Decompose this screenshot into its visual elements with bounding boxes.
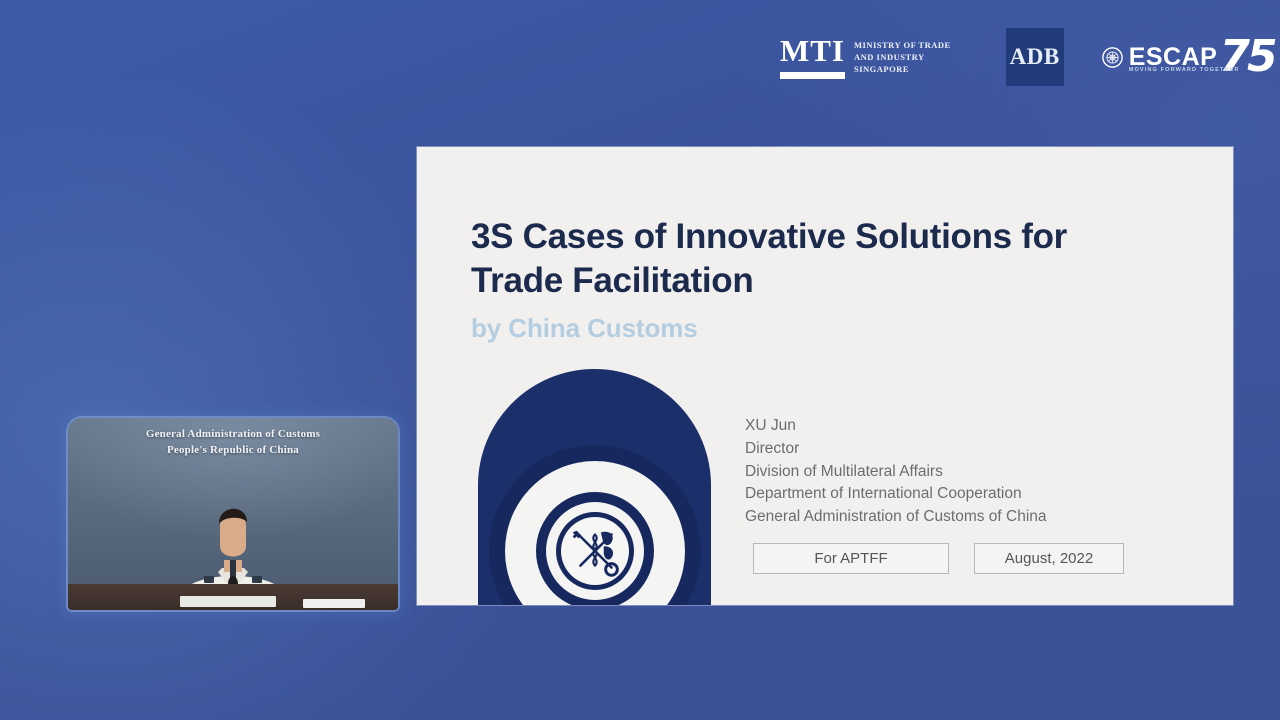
escap-logo: ESCAP 75 MOVING FORWARD TOGETHER bbox=[1102, 40, 1275, 74]
mti-acronym: MTI bbox=[780, 35, 845, 68]
mti-line-2: and Industry bbox=[854, 51, 951, 63]
video-document-secondary bbox=[303, 599, 365, 608]
video-backdrop-caption: General Administration of Customs People… bbox=[68, 427, 398, 459]
un-emblem-icon bbox=[1102, 47, 1123, 68]
mti-line-3: Singapore bbox=[854, 63, 951, 75]
mti-wordmark: Ministry of Trade and Industry Singapore bbox=[854, 39, 951, 75]
mti-logo: MTI Ministry of Trade and Industry Singa… bbox=[780, 35, 951, 79]
speaker-title: Director bbox=[745, 438, 1047, 461]
video-caption-line-1: General Administration of Customs bbox=[68, 427, 398, 443]
mti-line-1: Ministry of Trade bbox=[854, 39, 951, 51]
date-tag: August, 2022 bbox=[974, 543, 1124, 574]
event-tag: For APTFF bbox=[753, 543, 949, 574]
escap-tagline: MOVING FORWARD TOGETHER bbox=[1129, 67, 1240, 73]
emblem-rings bbox=[489, 445, 701, 605]
speaker-figure bbox=[158, 464, 308, 596]
slide-title: 3S Cases of Innovative Solutions for Tra… bbox=[471, 215, 1161, 303]
presentation-slide: 3S Cases of Innovative Solutions for Tra… bbox=[417, 147, 1233, 605]
china-customs-emblem bbox=[478, 369, 711, 605]
mti-mark: MTI bbox=[780, 35, 845, 79]
speaker-video-feed[interactable]: General Administration of Customs People… bbox=[68, 418, 398, 610]
speaker-info-block: XU Jun Director Division of Multilateral… bbox=[745, 415, 1047, 529]
caduceus-and-key-icon bbox=[561, 517, 629, 585]
speaker-division: Division of Multilateral Affairs bbox=[745, 461, 1047, 484]
speaker-name: XU Jun bbox=[745, 415, 1047, 438]
adb-acronym: ADB bbox=[1010, 44, 1060, 70]
adb-logo: ADB bbox=[1006, 28, 1064, 86]
mti-underline-bar bbox=[780, 72, 845, 79]
video-document bbox=[180, 596, 276, 607]
escap-wordmark: ESCAP bbox=[1129, 45, 1218, 70]
slide-subtitle: by China Customs bbox=[471, 313, 698, 344]
speaker-department: Department of International Cooperation bbox=[745, 483, 1047, 506]
video-caption-line-2: People's Republic of China bbox=[68, 443, 398, 459]
speaker-organization: General Administration of Customs of Chi… bbox=[745, 506, 1047, 529]
partner-logo-strip: MTI Ministry of Trade and Industry Singa… bbox=[780, 28, 1275, 86]
slide-tag-row: For APTFF August, 2022 bbox=[753, 543, 1124, 574]
